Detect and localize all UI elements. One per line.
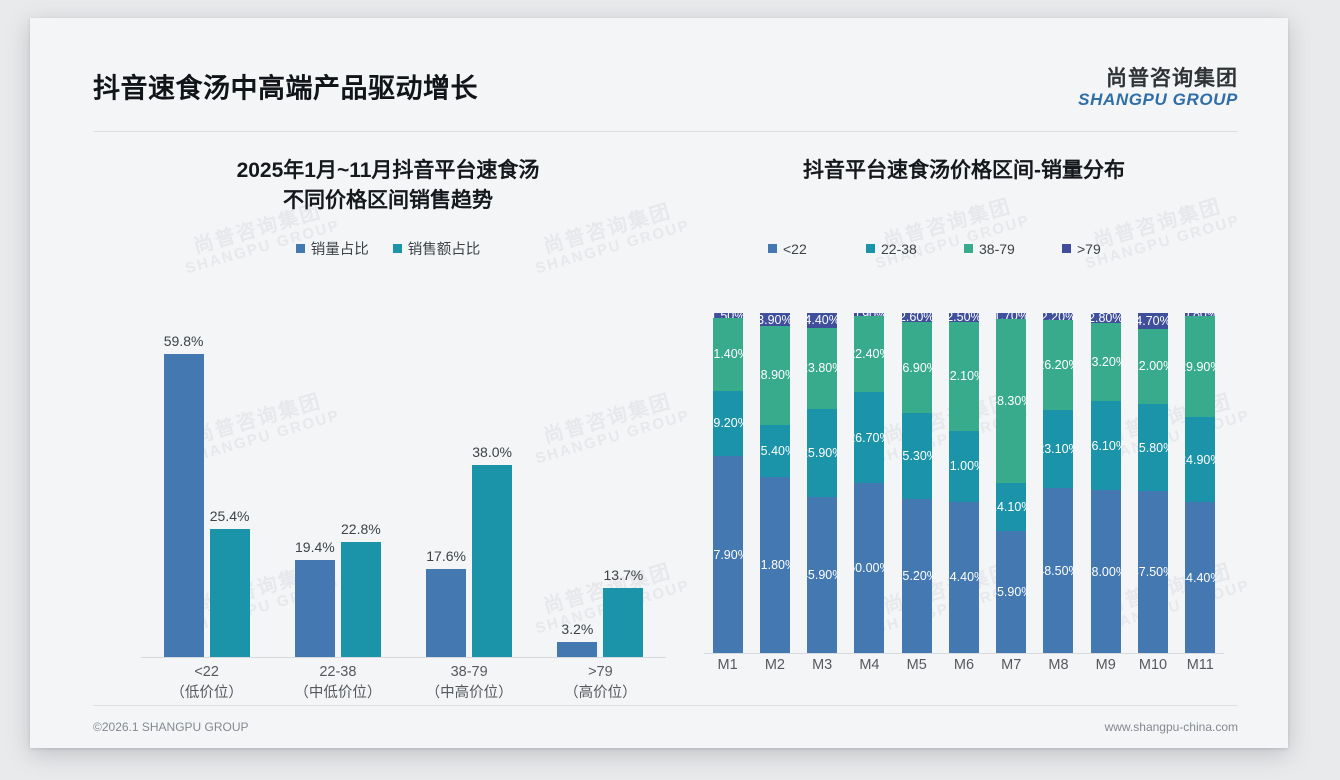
x-tick-label: M10 [1129,657,1176,673]
stacked-column: 4.70%22.00%25.80%47.50% [1129,313,1176,653]
segment-value-label: 45.20% [902,569,932,583]
x-tick-label: M11 [1177,657,1224,673]
chart-title-left-line1: 2025年1月~11月抖音平台速食汤 [93,156,683,186]
segment-value-label: 23.80% [807,361,837,375]
segment-value-label: 29.90% [1185,360,1215,374]
stacked-segment-M8->79[interactable]: 2.20% [1043,313,1073,320]
grouped-bar-chart: 59.8%25.4%19.4%22.8%17.6%38.0%3.2%13.7% … [121,328,666,658]
stacked-bar-M2[interactable]: 3.90%28.90%15.40%51.80% [760,313,790,653]
stacked-segment-M3->79[interactable]: 4.40% [807,313,837,328]
legend-swatch-icon [964,244,973,253]
segment-value-label: 19.20% [713,416,743,430]
stacked-segment-M11-38-79[interactable]: 29.90% [1185,316,1215,418]
bar->79-销售额占比[interactable]: 13.7% [603,588,643,658]
segment-value-label: 32.10% [949,369,979,383]
bar-22-38-销售额占比[interactable]: 22.8% [341,542,381,658]
stacked-segment-M8-38-79[interactable]: 26.20% [1043,320,1073,409]
stacked-segment-M9->79[interactable]: 2.80% [1091,313,1121,323]
stacked-segment-M9-38-79[interactable]: 23.20% [1091,323,1121,402]
stacked-column: 2.20%26.20%23.10%48.50% [1035,313,1082,653]
stacked-segment-M4-<22[interactable]: 50.00% [854,483,884,653]
stacked-segment-M11-<22[interactable]: 44.40% [1185,502,1215,653]
segment-value-label: 25.80% [1138,441,1168,455]
stacked-segment-M2-<22[interactable]: 51.80% [760,477,790,653]
logo-english-name: SHANGPU GROUP [1078,91,1238,109]
segment-value-label: 2.50% [949,313,979,322]
page-title: 抖音速食汤中高端产品驱动增长 [93,67,478,106]
stacked-segment-M3-38-79[interactable]: 23.80% [807,328,837,409]
x-tick-label: M3 [799,657,846,673]
bar->79-销量占比[interactable]: 3.2% [557,642,597,658]
stacked-segment-M10-38-79[interactable]: 22.00% [1138,329,1168,404]
stacked-bar-M7[interactable]: 1.70%48.30%14.10%35.90% [996,313,1026,653]
segment-value-label: 4.40% [807,313,837,327]
stacked-segment-M1-38-79[interactable]: 21.40% [713,318,743,391]
legend-label: 销售额占比 [408,238,481,259]
bar-<22-销售额占比[interactable]: 25.4% [210,529,250,658]
stacked-bar-M1[interactable]: 1.50%21.40%19.20%57.90% [713,313,743,653]
legend-label: <22 [783,241,807,257]
legend-swatch-icon [296,244,305,253]
segment-value-label: 2.80% [1091,313,1121,323]
stacked-segment-M3-<22[interactable]: 45.90% [807,497,837,653]
stacked-segment-M1-22-38[interactable]: 19.20% [713,391,743,456]
stacked-column: 1.50%21.40%19.20%57.90% [704,313,751,653]
stacked-segment-M6-<22[interactable]: 44.40% [949,502,979,653]
stacked-bar-M8[interactable]: 2.20%26.20%23.10%48.50% [1043,313,1073,653]
x-axis-line-right [704,653,1224,654]
footer-divider [93,705,1238,706]
bar-value-label: 22.8% [341,521,381,537]
legend-item-3[interactable]: >79 [1062,241,1160,257]
stacked-segment-M5->79[interactable]: 2.60% [902,313,932,322]
bar-value-label: 3.2% [561,621,593,637]
stacked-segment-M2-38-79[interactable]: 28.90% [760,326,790,424]
chart-title-left-line2: 不同价格区间销售趋势 [93,186,683,216]
stacked-segment-M6-38-79[interactable]: 32.10% [949,322,979,431]
stacked-bar-M6[interactable]: 2.50%32.10%21.00%44.40% [949,313,979,653]
bar-<22-销量占比[interactable]: 59.8% [164,354,204,658]
segment-value-label: 50.00% [854,561,884,575]
stacked-segment-M10->79[interactable]: 4.70% [1138,313,1168,329]
x-tick-label: M6 [940,657,987,673]
legend-label: 22-38 [881,241,917,257]
chart-panel-left: 2025年1月~11月抖音平台速食汤 不同价格区间销售趋势 销量占比销售额占比 … [93,138,683,698]
chart-title-right: 抖音平台速食汤价格区间-销量分布 [690,156,1238,186]
stacked-bar-chart: 1.50%21.40%19.20%57.90%3.90%28.90%15.40%… [704,313,1224,653]
segment-value-label: 26.10% [1091,439,1121,453]
bar-value-label: 59.8% [164,333,204,349]
x-tick-label: >79（高价位） [535,662,666,704]
segment-value-label: 21.40% [713,347,743,361]
stacked-segment-M10-<22[interactable]: 47.50% [1138,491,1168,653]
stacked-segment-M2-22-38[interactable]: 15.40% [760,425,790,477]
segment-value-label: 25.90% [807,446,837,460]
legend-label: 38-79 [979,241,1015,257]
x-tick-label: M9 [1082,657,1129,673]
stacked-column: 0.90%22.40%26.70%50.00% [846,313,893,653]
bar-38-79-销售额占比[interactable]: 38.0% [472,465,512,658]
stacked-segment-M8-22-38[interactable]: 23.10% [1043,410,1073,489]
bar-value-label: 25.4% [210,508,250,524]
x-tick-label: M5 [893,657,940,673]
bar-22-38-销量占比[interactable]: 19.4% [295,560,335,658]
legend-swatch-icon [1062,244,1071,253]
stacked-bar-M11[interactable]: 0.80%29.90%24.90%44.40% [1185,313,1215,653]
segment-value-label: 2.60% [902,313,932,322]
footer-website: www.shangpu-china.com [1105,720,1238,734]
stacked-segment-M7-22-38[interactable]: 14.10% [996,483,1026,531]
bar-group: 3.2%13.7% [535,328,666,658]
legend-label: 销量占比 [311,238,369,259]
segment-value-label: 24.90% [1185,453,1215,467]
segment-value-label: 48.00% [1091,565,1121,579]
segment-value-label: 3.90% [760,313,790,326]
legend-swatch-icon [866,244,875,253]
segment-value-label: 25.30% [902,449,932,463]
bar-38-79-销量占比[interactable]: 17.6% [426,569,466,658]
segment-value-label: 47.50% [1138,565,1168,579]
grouped-bar-plot-area: 59.8%25.4%19.4%22.8%17.6%38.0%3.2%13.7% [141,328,666,658]
stacked-column: 1.70%48.30%14.10%35.90% [988,313,1035,653]
logo-chinese-name: 尚普咨询集团 [1078,68,1238,91]
segment-value-label: 14.10% [996,500,1026,514]
stacked-column: 2.50%32.10%21.00%44.40% [940,313,987,653]
legend-label: >79 [1077,241,1101,257]
stacked-column: 3.90%28.90%15.40%51.80% [751,313,798,653]
x-tick-label: <22（低价位） [141,662,272,704]
stacked-column: 2.80%23.20%26.10%48.00% [1082,313,1129,653]
segment-value-label: 2.20% [1043,313,1073,320]
stacked-bar-M3[interactable]: 4.40%23.80%25.90%45.90% [807,313,837,653]
stacked-bar-M9[interactable]: 2.80%23.20%26.10%48.00% [1091,313,1121,653]
legend-swatch-icon [393,244,402,253]
bar-value-label: 19.4% [295,539,335,555]
header-divider [93,131,1238,132]
stacked-column: 4.40%23.80%25.90%45.90% [799,313,846,653]
stacked-segment-M1-<22[interactable]: 57.90% [713,456,743,653]
x-tick-label: M4 [846,657,893,673]
segment-value-label: 26.90% [902,361,932,375]
bar-group: 59.8%25.4% [141,328,272,658]
segment-value-label: 51.80% [760,558,790,572]
segment-value-label: 44.40% [1185,571,1215,585]
stacked-segment-M6-22-38[interactable]: 21.00% [949,431,979,502]
slide: 抖音速食汤中高端产品驱动增长 尚普咨询集团 SHANGPU GROUP 尚普咨询… [30,18,1288,748]
segment-value-label: 22.00% [1138,359,1168,373]
segment-value-label: 23.20% [1091,355,1121,369]
segment-value-label: 4.70% [1138,314,1168,328]
segment-value-label: 48.30% [996,394,1026,408]
segment-value-label: 23.10% [1043,442,1073,456]
bar-value-label: 38.0% [472,444,512,460]
stacked-segment-M3-22-38[interactable]: 25.90% [807,409,837,497]
legend-item-0[interactable]: 销量占比 [296,238,369,259]
chart-title-left: 2025年1月~11月抖音平台速食汤 不同价格区间销售趋势 [93,156,683,216]
segment-value-label: 22.40% [854,347,884,361]
x-axis-line-left [141,657,666,658]
x-tick-label: M1 [704,657,751,673]
stacked-segment-M4-38-79[interactable]: 22.40% [854,316,884,392]
stacked-column: 0.80%29.90%24.90%44.40% [1177,313,1224,653]
stacked-segment-M5-22-38[interactable]: 25.30% [902,413,932,499]
slide-header: 抖音速食汤中高端产品驱动增长 尚普咨询集团 SHANGPU GROUP [30,18,1288,118]
brand-logo: 尚普咨询集团 SHANGPU GROUP [1078,68,1238,109]
stacked-segment-M5-38-79[interactable]: 26.90% [902,322,932,413]
x-tick-label: M8 [1035,657,1082,673]
legend-item-1[interactable]: 销售额占比 [393,238,481,259]
chart-legend-left: 销量占比销售额占比 [93,238,683,259]
segment-value-label: 26.20% [1043,358,1073,372]
x-tick-label: M2 [751,657,798,673]
stacked-bar-M4[interactable]: 0.90%22.40%26.70%50.00% [854,313,884,653]
chart-panel-right: 抖音平台速食汤价格区间-销量分布 <2222-3838-79>79 1.50%2… [690,138,1238,698]
stacked-segment-M4-22-38[interactable]: 26.70% [854,392,884,483]
segment-value-label: 44.40% [949,570,979,584]
stacked-segment-M10-22-38[interactable]: 25.80% [1138,404,1168,492]
legend-item-2[interactable]: 38-79 [964,241,1062,257]
segment-value-label: 26.70% [854,431,884,445]
bar-group: 19.4%22.8% [272,328,403,658]
stacked-segment-M7-38-79[interactable]: 48.30% [996,319,1026,483]
segment-value-label: 15.40% [760,444,790,458]
chart-legend-right: <2222-3838-79>79 [690,241,1238,257]
legend-swatch-icon [768,244,777,253]
stacked-segment-M6->79[interactable]: 2.50% [949,313,979,322]
stacked-segment-M9-22-38[interactable]: 26.10% [1091,401,1121,490]
stacked-bar-M10[interactable]: 4.70%22.00%25.80%47.50% [1138,313,1168,653]
segment-value-label: 35.90% [996,585,1026,599]
bar-value-label: 17.6% [426,548,466,564]
segment-value-label: 48.50% [1043,564,1073,578]
bar-group: 17.6%38.0% [404,328,535,658]
x-tick-label: M7 [988,657,1035,673]
legend-item-1[interactable]: 22-38 [866,241,964,257]
x-tick-label: 38-79（中高价位） [404,662,535,704]
bar-value-label: 13.7% [604,567,644,583]
segment-value-label: 45.90% [807,568,837,582]
stacked-segment-M8-<22[interactable]: 48.50% [1043,488,1073,653]
segment-value-label: 57.90% [713,548,743,562]
stacked-segment-M11-22-38[interactable]: 24.90% [1185,417,1215,502]
segment-value-label: 28.90% [760,368,790,382]
stacked-column: 2.60%26.90%25.30%45.20% [893,313,940,653]
stacked-bar-M5[interactable]: 2.60%26.90%25.30%45.20% [902,313,932,653]
footer-copyright: ©2026.1 SHANGPU GROUP [93,720,249,734]
stacked-segment-M5-<22[interactable]: 45.20% [902,499,932,653]
x-tick-label: 22-38（中低价位） [272,662,403,704]
legend-item-0[interactable]: <22 [768,241,866,257]
stacked-segment-M7-<22[interactable]: 35.90% [996,531,1026,653]
stacked-segment-M9-<22[interactable]: 48.00% [1091,490,1121,653]
segment-value-label: 21.00% [949,459,979,473]
stacked-segment-M2->79[interactable]: 3.90% [760,313,790,326]
